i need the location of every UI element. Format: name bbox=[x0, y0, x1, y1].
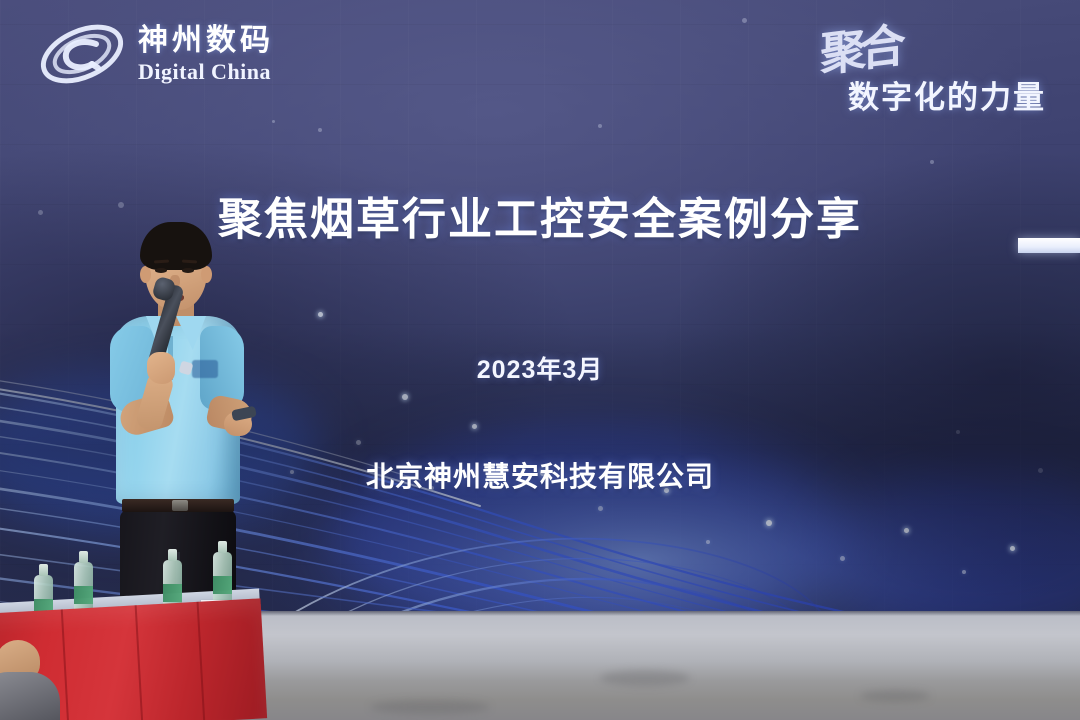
conference-stage-photo: 神州数码 Digital China 聚合 数字化的力量 聚焦烟草行业工控安全案… bbox=[0, 0, 1080, 720]
presenter-eye-right bbox=[182, 268, 194, 273]
tablecloth-fold bbox=[135, 605, 144, 720]
digital-china-logo: 神州数码 Digital China bbox=[36, 18, 274, 90]
presenter-ear-right bbox=[201, 266, 212, 283]
tablecloth-fold bbox=[197, 602, 206, 720]
floor-scuff-mark bbox=[370, 700, 490, 714]
light-particle bbox=[318, 128, 322, 132]
spiral-swirl-icon bbox=[36, 18, 128, 90]
light-particle bbox=[766, 520, 772, 526]
event-logo: 聚合 数字化的力量 bbox=[798, 14, 1058, 118]
light-particle bbox=[840, 556, 845, 561]
light-particle bbox=[742, 18, 747, 23]
floor-scuff-mark bbox=[600, 670, 690, 686]
light-particle bbox=[962, 570, 966, 574]
floor-scuff-mark bbox=[860, 690, 930, 702]
light-particle bbox=[402, 394, 408, 400]
tablecloth-fold bbox=[61, 609, 70, 720]
light-particle bbox=[1010, 546, 1015, 551]
presenter-ear-left bbox=[140, 266, 151, 283]
light-particle bbox=[472, 424, 477, 429]
light-particle bbox=[706, 540, 710, 544]
light-particle bbox=[956, 430, 960, 434]
presenter-belt-buckle bbox=[172, 500, 188, 511]
presenter-left-hand bbox=[147, 352, 175, 384]
light-particle bbox=[272, 120, 275, 123]
light-particle bbox=[598, 124, 602, 128]
brand-name-cn: 神州数码 bbox=[138, 26, 274, 56]
light-particle bbox=[598, 506, 603, 511]
light-particle bbox=[904, 528, 909, 533]
presenter-figure bbox=[96, 222, 276, 622]
light-particle bbox=[356, 440, 361, 445]
light-particle bbox=[930, 160, 934, 164]
brand-name-en: Digital China bbox=[138, 61, 274, 83]
presenter-hair bbox=[140, 222, 212, 270]
event-logo-subtitle: 数字化的力量 bbox=[848, 72, 1046, 117]
presenter-eye-left bbox=[155, 268, 167, 273]
light-particle bbox=[318, 312, 323, 317]
presenter-shirt-logo bbox=[192, 360, 218, 378]
